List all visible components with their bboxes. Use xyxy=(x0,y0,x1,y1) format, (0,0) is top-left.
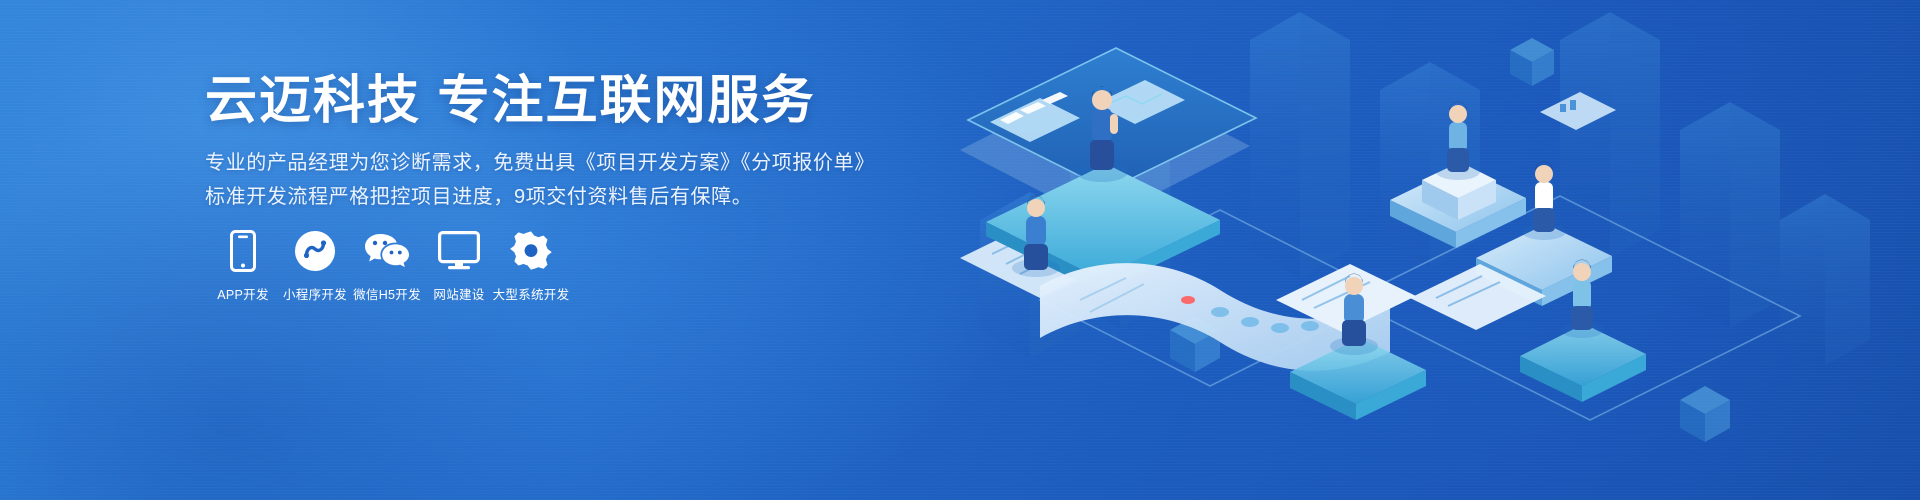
isometric-illustration xyxy=(920,0,1920,500)
service-item-app[interactable]: APP开发 xyxy=(207,228,279,303)
wechat-icon xyxy=(364,228,410,274)
service-item-mini-program[interactable]: 小程序开发 xyxy=(279,228,351,303)
subtitle-line-2: 标准开发流程严格把控项目进度，9项交付资料售后有保障。 xyxy=(205,180,905,214)
page-title: 云迈科技 专注互联网服务 xyxy=(205,72,815,132)
subtitle-line-1: 专业的产品经理为您诊断需求，免费出具《项目开发方案》《分项报价单》 xyxy=(205,146,905,180)
service-icon-row: APP开发 小程序开发 xyxy=(207,228,567,303)
service-item-wechat[interactable]: 微信H5开发 xyxy=(351,228,423,303)
hero-banner: 云迈科技 专注互联网服务 专业的产品经理为您诊断需求，免费出具《项目开发方案》《… xyxy=(0,0,1920,500)
service-label-mini-program: 小程序开发 xyxy=(283,284,347,303)
banner-content: 云迈科技 专注互联网服务 专业的产品经理为您诊断需求，免费出具《项目开发方案》《… xyxy=(205,0,965,500)
subtitle-block: 专业的产品经理为您诊断需求，免费出具《项目开发方案》《分项报价单》 标准开发流程… xyxy=(205,146,905,214)
service-label-wechat: 微信H5开发 xyxy=(353,284,421,303)
service-item-website[interactable]: 网站建设 xyxy=(423,228,495,303)
service-item-system[interactable]: 大型系统开发 xyxy=(495,228,567,303)
service-label-system: 大型系统开发 xyxy=(493,284,570,303)
monitor-icon xyxy=(438,228,480,274)
mini-program-icon xyxy=(294,228,336,274)
service-label-app: APP开发 xyxy=(217,284,269,303)
mobile-phone-icon xyxy=(230,228,256,274)
gear-icon xyxy=(510,228,552,274)
service-label-website: 网站建设 xyxy=(433,284,484,303)
